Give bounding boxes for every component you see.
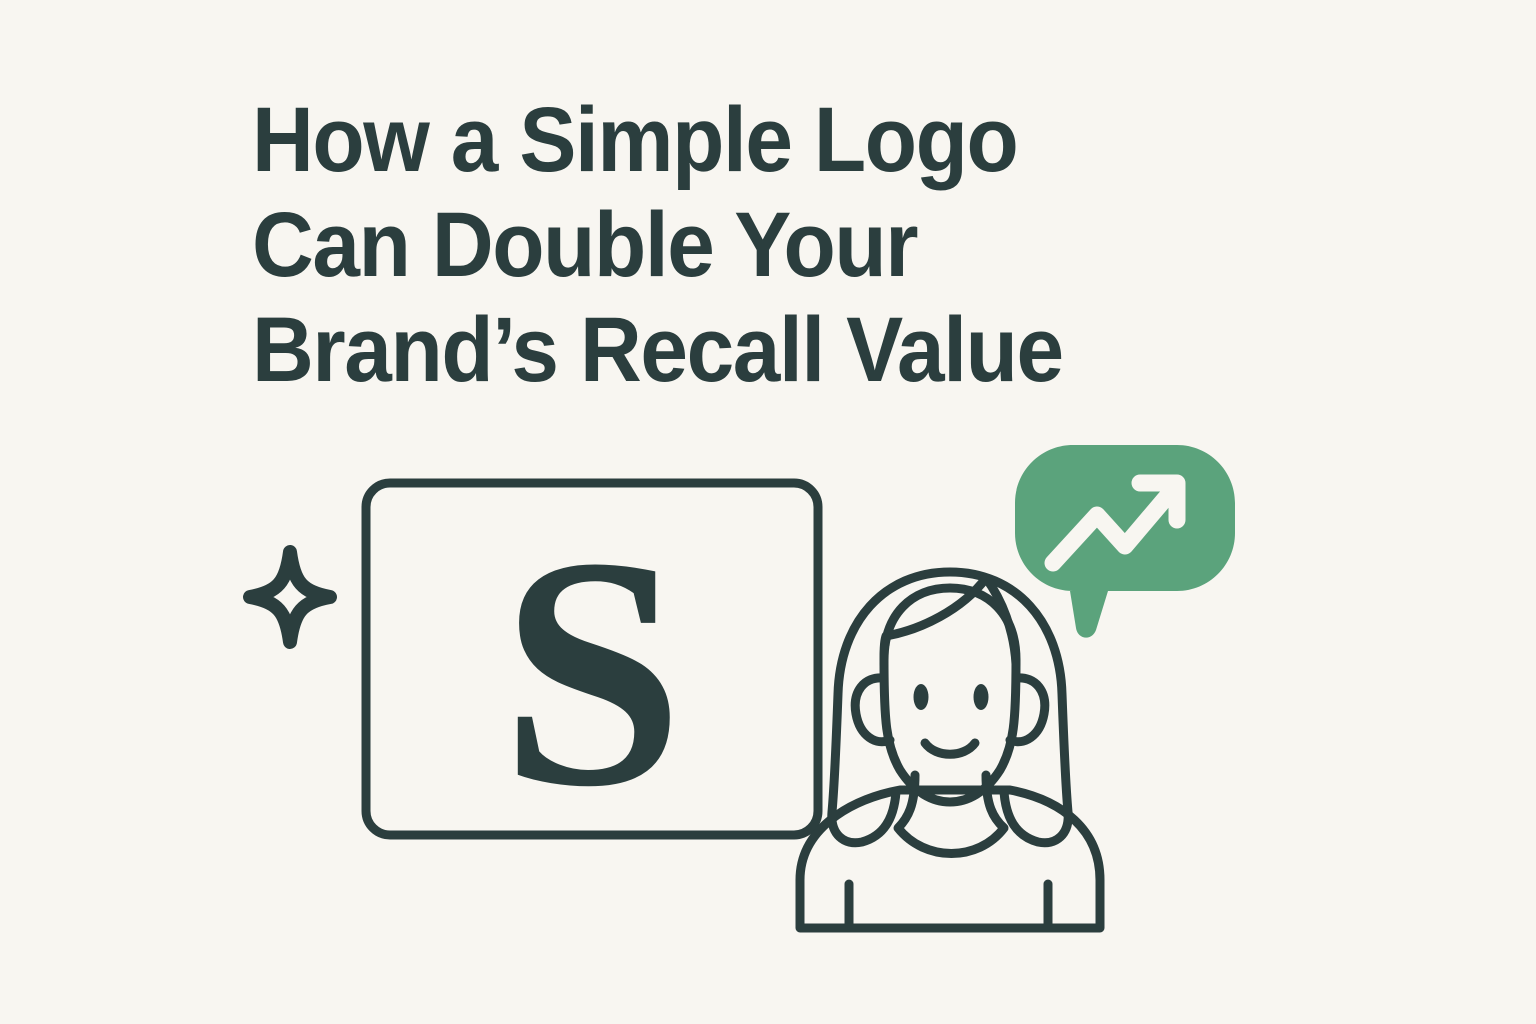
- person-smile: [925, 743, 975, 754]
- logo-card: S: [366, 483, 818, 855]
- logo-card-letter: S: [500, 490, 684, 855]
- trending-up-speech-bubble: [1015, 445, 1235, 638]
- person-eye-right: [974, 684, 989, 710]
- hero-graphic-canvas: How a Simple Logo Can Double Your Brand’…: [0, 0, 1536, 1024]
- person-face: [884, 588, 1016, 802]
- sparkle-star-icon: [250, 552, 330, 642]
- person-eye-left: [914, 684, 929, 710]
- hero-illustration: S: [0, 0, 1536, 1024]
- person-avatar-illustration: [800, 572, 1100, 928]
